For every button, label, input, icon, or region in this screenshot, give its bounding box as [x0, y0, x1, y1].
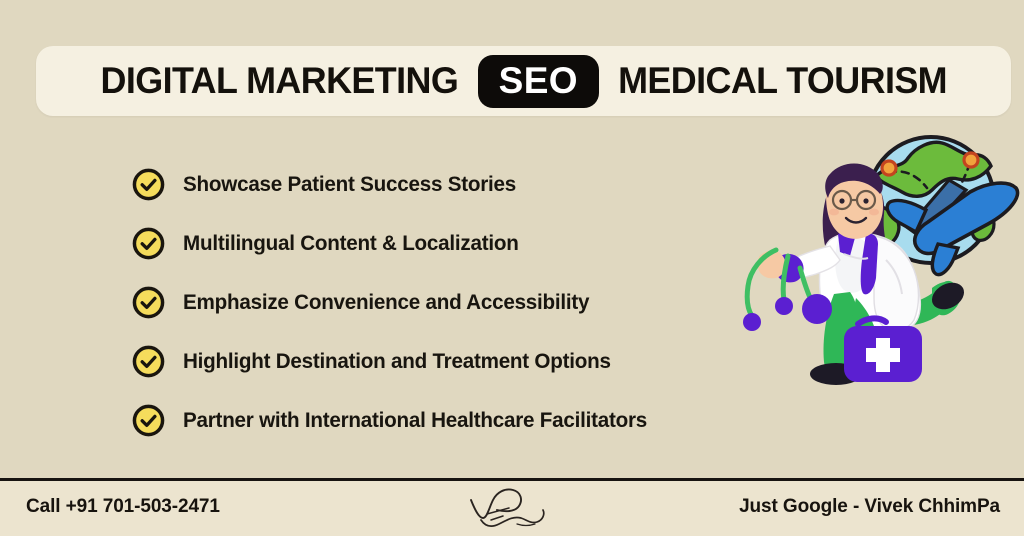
footer-phone-text[interactable]: Call +91 701-503-2471: [26, 496, 220, 518]
check-circle-icon: [132, 286, 165, 319]
medical-bag-icon: [844, 318, 922, 382]
location-pin-icon: [964, 153, 978, 167]
list-item: Highlight Destination and Treatment Opti…: [132, 332, 812, 391]
title-text-right: MEDICAL TOURISM: [618, 60, 947, 102]
list-item-label: Emphasize Convenience and Accessibility: [183, 290, 589, 315]
check-circle-icon: [132, 227, 165, 260]
running-doctor-illustration: [726, 128, 1024, 390]
list-item-label: Multilingual Content & Localization: [183, 231, 519, 256]
list-item: Showcase Patient Success Stories: [132, 155, 812, 214]
location-pin-icon: [882, 161, 896, 175]
list-item-label: Highlight Destination and Treatment Opti…: [183, 349, 611, 374]
check-circle-icon: [132, 404, 165, 437]
list-item-label: Partner with International Healthcare Fa…: [183, 408, 647, 433]
footer-divider: [0, 478, 1024, 481]
signature-mark: [457, 484, 567, 530]
footer-brand-text[interactable]: Just Google - Vivek ChhimPa: [739, 496, 1000, 518]
check-circle-icon: [132, 345, 165, 378]
seo-badge: SEO: [478, 55, 599, 108]
infographic-poster: DIGITAL MARKETING SEO MEDICAL TOURISM Sh…: [0, 0, 1024, 536]
footer-bar: Call +91 701-503-2471 Just Google - Vive…: [0, 478, 1024, 536]
benefits-list: Showcase Patient Success Stories Multili…: [132, 155, 812, 450]
check-circle-icon: [132, 168, 165, 201]
title-bar: DIGITAL MARKETING SEO MEDICAL TOURISM: [36, 46, 1011, 116]
title-text-left: DIGITAL MARKETING: [100, 60, 458, 102]
list-item: Partner with International Healthcare Fa…: [132, 391, 812, 450]
list-item-label: Showcase Patient Success Stories: [183, 172, 516, 197]
list-item: Multilingual Content & Localization: [132, 214, 812, 273]
list-item: Emphasize Convenience and Accessibility: [132, 273, 812, 332]
